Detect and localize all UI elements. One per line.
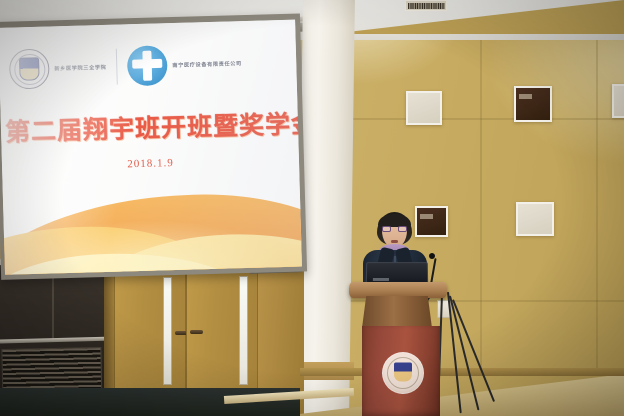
wall-panel-2 [514,86,552,122]
lens-right [398,226,407,232]
vent-slats-icon [408,3,445,9]
photograph-scene: 新乡医学院三全学院 南宁医疗设备有限责任公司 第二届翔宇班开班暨奖学金颁发仪式 … [0,0,624,416]
slide-logo-right: 南宁医疗设备有限责任公司 [127,43,243,86]
podium-emblem-icon [382,352,424,394]
wall-column [297,0,355,416]
screen-surface: 新乡医学院三全学院 南宁医疗设备有限责任公司 第二届翔宇班开班暨奖学金颁发仪式 … [0,20,302,275]
door-right-handle[interactable] [190,330,203,334]
right-org-name: 南宁医疗设备有限责任公司 [172,60,242,69]
podium-emblem-ring [387,357,419,389]
university-crest-icon [9,48,50,89]
wall-seam-a [480,0,482,376]
podium-neck [362,296,432,328]
medical-cross-icon [127,45,168,86]
logo-divider [116,49,118,85]
slide-logo-row: 新乡医学院三全学院 南宁医疗设备有限责任公司 [9,36,287,96]
wall-baseboard [300,368,624,376]
wall-panel-1 [406,91,442,125]
presentation-slide: 新乡医学院三全学院 南宁医疗设备有限责任公司 第二届翔宇班开班暨奖学金颁发仪式 … [0,20,302,275]
slide-logo-left: 新乡医学院三全学院 [9,47,107,90]
lens-left [382,226,391,232]
wall-panel-4 [516,202,554,236]
eyeglasses-icon [382,226,407,232]
slide-main-title: 第二届翔宇班开班暨奖学金颁发仪式 [5,112,295,145]
laptop-brand-logo [373,278,389,281]
wall-seam-b [596,0,598,376]
door-right-glass [239,276,248,385]
left-org-name: 新乡医学院三全学院 [54,63,106,71]
door-left-glass [163,277,172,385]
laptop-screen[interactable] [366,262,428,284]
podium-desktop [349,282,447,298]
speaker-mouth [391,240,398,243]
crest-ring [13,53,45,85]
projection-screen: 新乡医学院三全学院 南宁医疗设备有限责任公司 第二届翔宇班开班暨奖学金颁发仪式 … [0,13,307,279]
air-vent-grille [405,0,447,11]
wall-panel-5 [612,84,624,118]
